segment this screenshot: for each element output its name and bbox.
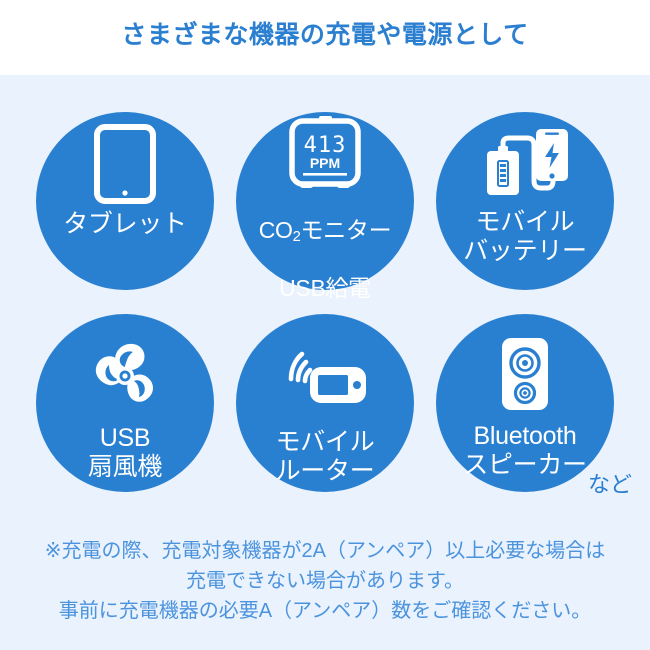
device-label-line-2: USB給電 <box>259 275 392 302</box>
infographic-page: さまざまな機器の充電や電源として タブレット <box>0 0 650 650</box>
etc-label: など <box>588 472 632 498</box>
usb-fan-icon <box>88 314 162 424</box>
device-circle: タブレット <box>36 112 214 290</box>
device-circle: 413 PPM CO2モニター USB給電 タイプ <box>236 112 414 290</box>
co2-display-unit: PPM <box>310 155 340 171</box>
mobile-router-icon <box>282 314 368 428</box>
device-card-usb-fan[interactable]: USB 扇風機 <box>36 314 214 492</box>
device-label: USB 扇風機 <box>88 424 162 482</box>
page-title: さまざまな機器の充電や電源として <box>0 18 650 52</box>
device-card-tablet[interactable]: タブレット <box>36 112 214 290</box>
device-circle: モバイル ルーター <box>236 314 414 492</box>
device-label: モバイル ルーター <box>276 428 375 486</box>
bluetooth-speaker-icon <box>497 314 553 422</box>
device-card-mobile-router[interactable]: モバイル ルーター <box>236 314 414 492</box>
power-bank-charging-phone-icon <box>479 112 571 208</box>
device-grid: タブレット 413 <box>25 112 625 516</box>
co2-monitor-icon: 413 PPM <box>286 112 364 190</box>
device-label-line-1: CO2モニター <box>259 217 392 248</box>
device-label: モバイル バッテリー <box>463 208 587 266</box>
device-label: タブレット <box>63 210 187 239</box>
footnote-text: ※充電の際、充電対象機器が2A（アンペア）以上必要な場合は 充電できない場合があ… <box>0 536 650 626</box>
device-circle: USB 扇風機 <box>36 314 214 492</box>
device-card-bluetooth-speaker[interactable]: Bluetooth スピーカー <box>436 314 614 492</box>
device-circle: Bluetooth スピーカー <box>436 314 614 492</box>
device-circle: モバイル バッテリー <box>436 112 614 290</box>
device-card-co2-monitor[interactable]: 413 PPM CO2モニター USB給電 タイプ <box>236 112 414 290</box>
device-card-mobile-battery[interactable]: モバイル バッテリー <box>436 112 614 290</box>
tablet-icon <box>94 112 156 210</box>
device-label: Bluetooth スピーカー <box>463 422 587 480</box>
